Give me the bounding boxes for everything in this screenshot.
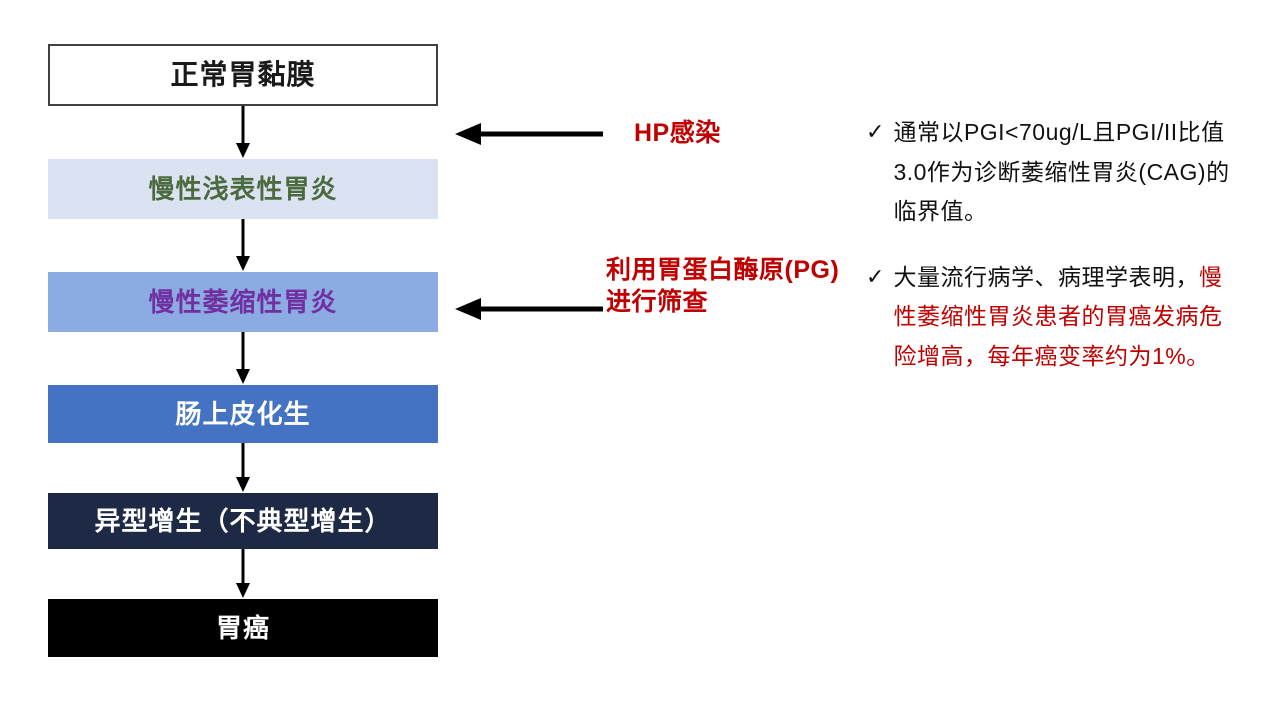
left-arrow-icon [455,120,605,148]
flow-step-chronic-superficial-gastritis: 慢性浅表性胃炎 [48,159,438,219]
down-arrow-icon [234,332,252,385]
annotation-arrow-pg-screening [455,295,605,328]
down-arrow-icon [234,443,252,493]
bullet-text-pg-threshold: 通常以PGI<70ug/L且PGI/II比值3.0作为诊断萎缩性胃炎(CAG)的… [893,113,1236,232]
flowchart-column: 正常胃黏膜 慢性浅表性胃炎 慢性萎缩性胃炎 肠上皮化生 异型增生（不典型增生） [48,44,438,657]
connector-arrow-5 [48,549,438,599]
connector-arrow-1 [48,106,438,159]
annotation-label-pg-screening: 利用胃蛋白酶原(PG)进行筛查 [606,254,846,318]
connector-arrow-4 [48,443,438,493]
explanation-panel: ✓ 通常以PGI<70ug/L且PGI/II比值3.0作为诊断萎缩性胃炎(CAG… [866,113,1236,402]
left-arrow-icon [455,295,605,323]
flow-step-gastric-cancer: 胃癌 [48,599,438,657]
annotation-label-hp-infection: HP感染 [634,117,721,149]
down-arrow-icon [234,549,252,599]
bullet-segment: 大量流行病学、病理学表明， [893,264,1199,290]
down-arrow-icon [234,219,252,272]
flow-step-dysplasia: 异型增生（不典型增生） [48,493,438,549]
checkmark-icon: ✓ [866,258,884,296]
bullet-text-cancer-risk: 大量流行病学、病理学表明，慢性萎缩性胃炎患者的胃癌发病危险增高，每年癌变率约为1… [893,258,1236,377]
down-arrow-icon [234,106,252,159]
checkmark-icon: ✓ [866,113,884,151]
connector-arrow-3 [48,332,438,385]
annotation-arrow-hp-infection [455,120,605,153]
list-item: ✓ 大量流行病学、病理学表明，慢性萎缩性胃炎患者的胃癌发病危险增高，每年癌变率约… [866,258,1236,377]
flow-step-chronic-atrophic-gastritis: 慢性萎缩性胃炎 [48,272,438,332]
list-item: ✓ 通常以PGI<70ug/L且PGI/II比值3.0作为诊断萎缩性胃炎(CAG… [866,113,1236,232]
connector-arrow-2 [48,219,438,272]
bullet-segment: 通常以PGI<70ug/L且PGI/II比值3.0作为诊断萎缩性胃炎(CAG)的… [893,119,1229,224]
flow-step-intestinal-metaplasia: 肠上皮化生 [48,385,438,443]
flow-step-normal-mucosa: 正常胃黏膜 [48,44,438,106]
